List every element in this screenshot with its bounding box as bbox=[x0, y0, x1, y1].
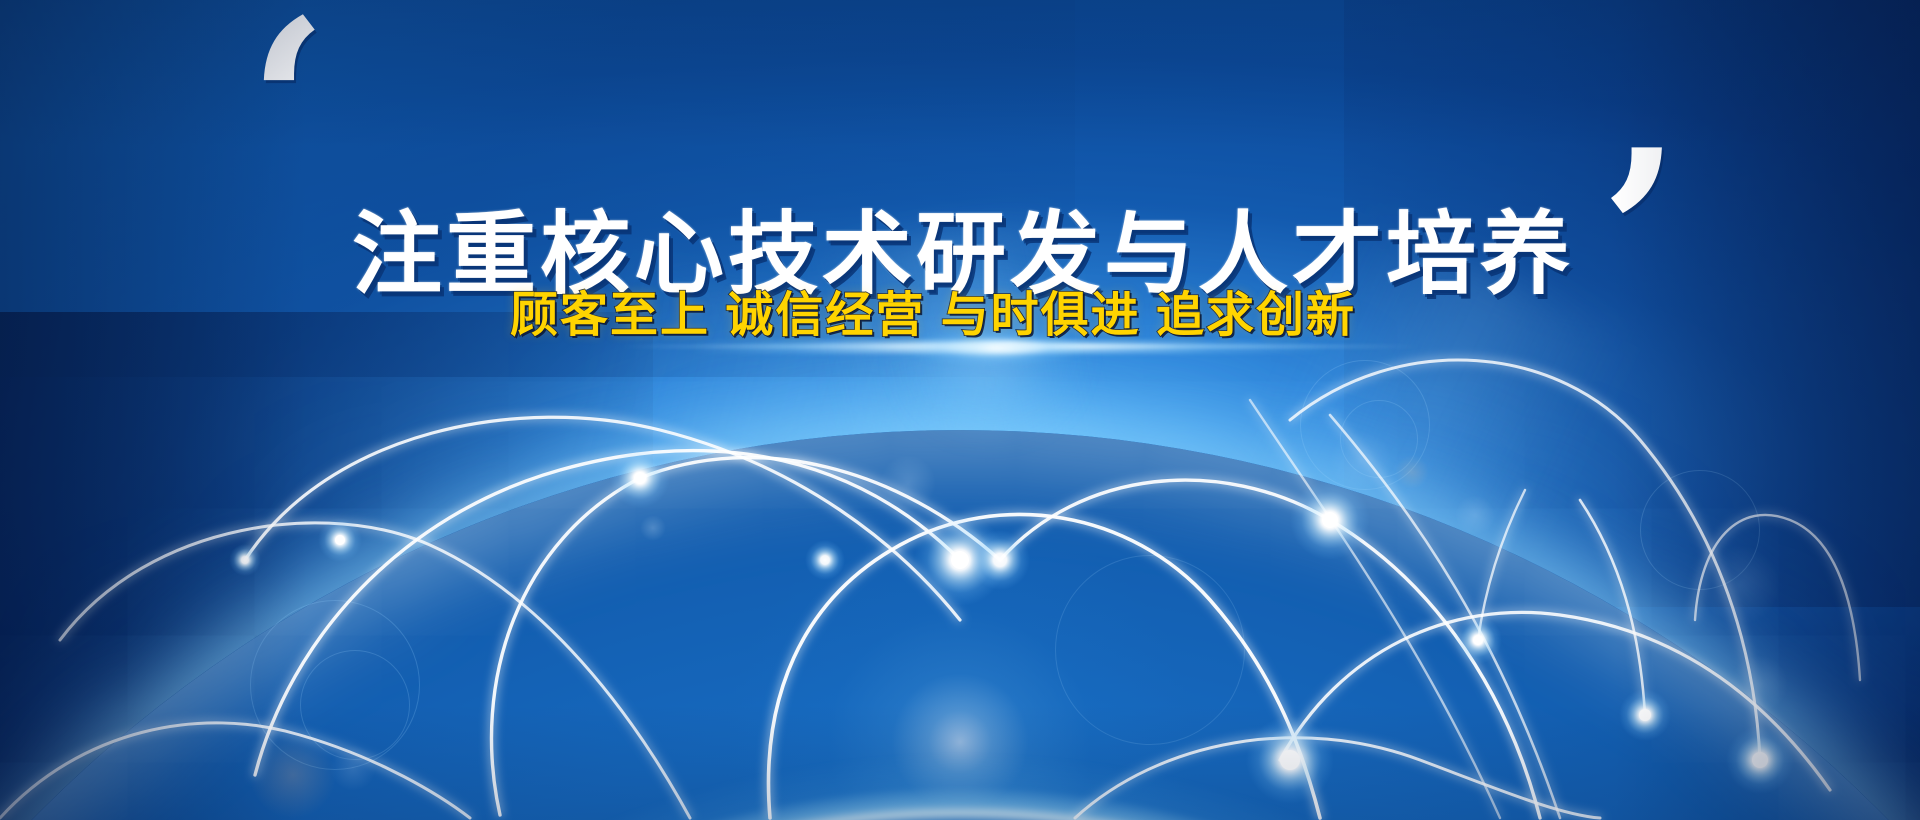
slogan-subtitle: 顾客至上 诚信经营 与时俱进 追求创新 bbox=[510, 288, 1356, 343]
page-title: 注重核心技术研发与人才培养 bbox=[352, 210, 1574, 300]
banner-root: ‘ 注重核心技术研发与人才培养 ’ 顾客至上 诚信经营 与时俱进 追求创新 bbox=[0, 0, 1920, 820]
opening-quote-mark: ‘ bbox=[248, 0, 328, 220]
closing-quote-mark: ’ bbox=[1600, 120, 1680, 350]
globe-atmosphere-rim bbox=[0, 426, 1920, 820]
